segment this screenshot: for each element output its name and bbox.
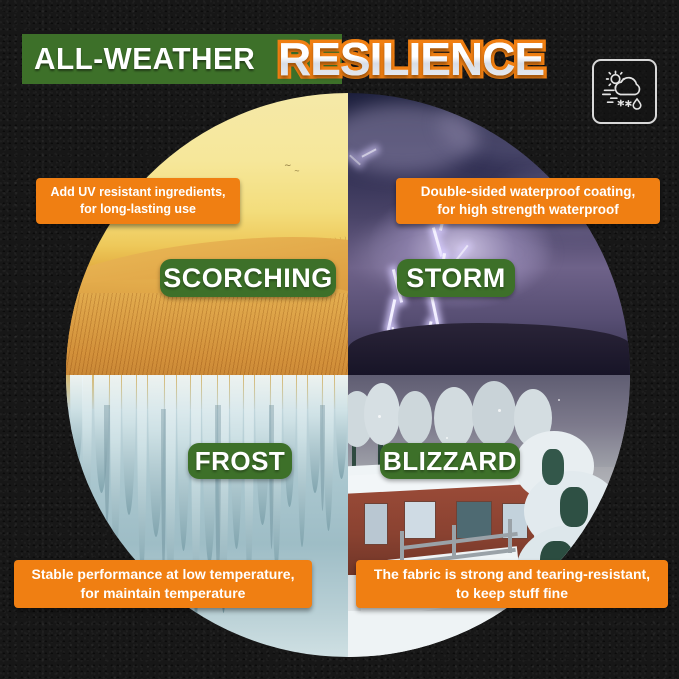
banner-scorching-line2: for long-lasting use <box>80 201 196 218</box>
banner-blizzard-line1: The fabric is strong and tearing-resista… <box>374 565 650 584</box>
all-weather-resilience-poster: ALL-WEATHER RESILIENCE RESILIENCE <box>0 0 679 679</box>
header-title-all-weather: ALL-WEATHER <box>34 40 255 78</box>
header-title-resilience: RESILIENCE <box>278 30 544 88</box>
snowy-cabin-scene <box>348 375 630 657</box>
banner-frost: Stable performance at low temperature, f… <box>14 560 312 608</box>
quadrant-storm <box>348 93 630 375</box>
label-storm: STORM <box>397 259 515 297</box>
banner-frost-line2: for maintain temperature <box>81 584 246 603</box>
banner-blizzard: The fabric is strong and tearing-resista… <box>356 560 668 608</box>
banner-storm: Double-sided waterproof coating, for hig… <box>396 178 660 224</box>
icicle-scene <box>66 375 348 657</box>
banner-scorching-line1: Add UV resistant ingredients, <box>50 184 225 201</box>
header: ALL-WEATHER RESILIENCE RESILIENCE <box>0 26 679 94</box>
label-scorching: SCORCHING <box>160 259 336 297</box>
quadrant-blizzard <box>348 375 630 657</box>
storm-scene <box>348 93 630 375</box>
bird-icon: ∼ <box>284 161 292 170</box>
bird-icon: ∼ <box>294 167 300 176</box>
banner-storm-line1: Double-sided waterproof coating, <box>421 183 636 201</box>
banner-blizzard-line2: to keep stuff fine <box>456 584 568 603</box>
banner-frost-line1: Stable performance at low temperature, <box>32 565 295 584</box>
quadrant-frost <box>66 375 348 657</box>
quadrant-scorching: ∼ ∼ <box>66 93 348 375</box>
desert-scene: ∼ ∼ <box>66 93 348 375</box>
label-frost: FROST <box>188 443 292 479</box>
label-blizzard: BLIZZARD <box>380 443 520 479</box>
banner-scorching: Add UV resistant ingredients, for long-l… <box>36 178 240 224</box>
banner-storm-line2: for high strength waterproof <box>437 201 619 219</box>
